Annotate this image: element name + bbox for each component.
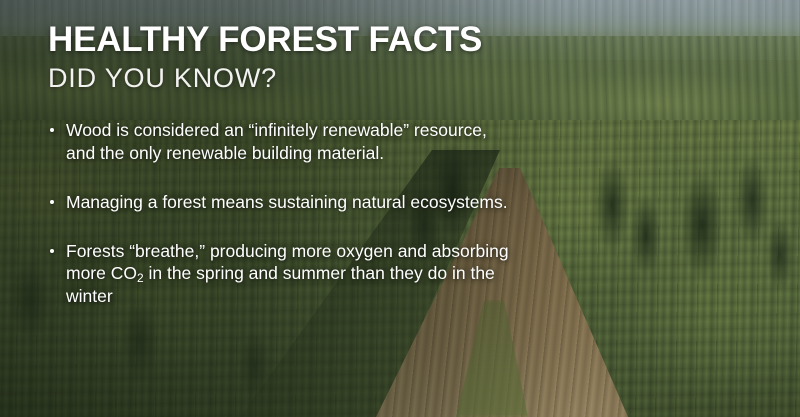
list-item-text: Managing a forest means sustaining natur…: [66, 192, 508, 212]
bullet-dot-icon: [50, 249, 54, 253]
page-subtitle: DID YOU KNOW?: [48, 64, 518, 94]
list-item: Forests “breathe,” producing more oxygen…: [48, 240, 518, 308]
text-content-block: HEALTHY FOREST FACTS DID YOU KNOW? Wood …: [48, 22, 518, 308]
slide-canvas: HEALTHY FOREST FACTS DID YOU KNOW? Wood …: [0, 0, 800, 417]
co2-subscript: 2: [137, 271, 144, 285]
page-title: HEALTHY FOREST FACTS: [48, 22, 518, 58]
facts-list: Wood is considered an “infinitely renewa…: [48, 119, 518, 308]
bullet-dot-icon: [50, 200, 54, 204]
list-item: Wood is considered an “infinitely renewa…: [48, 119, 518, 165]
bullet-dot-icon: [50, 128, 54, 132]
list-item-text: Wood is considered an “infinitely renewa…: [66, 120, 487, 163]
list-item: Managing a forest means sustaining natur…: [48, 191, 518, 214]
